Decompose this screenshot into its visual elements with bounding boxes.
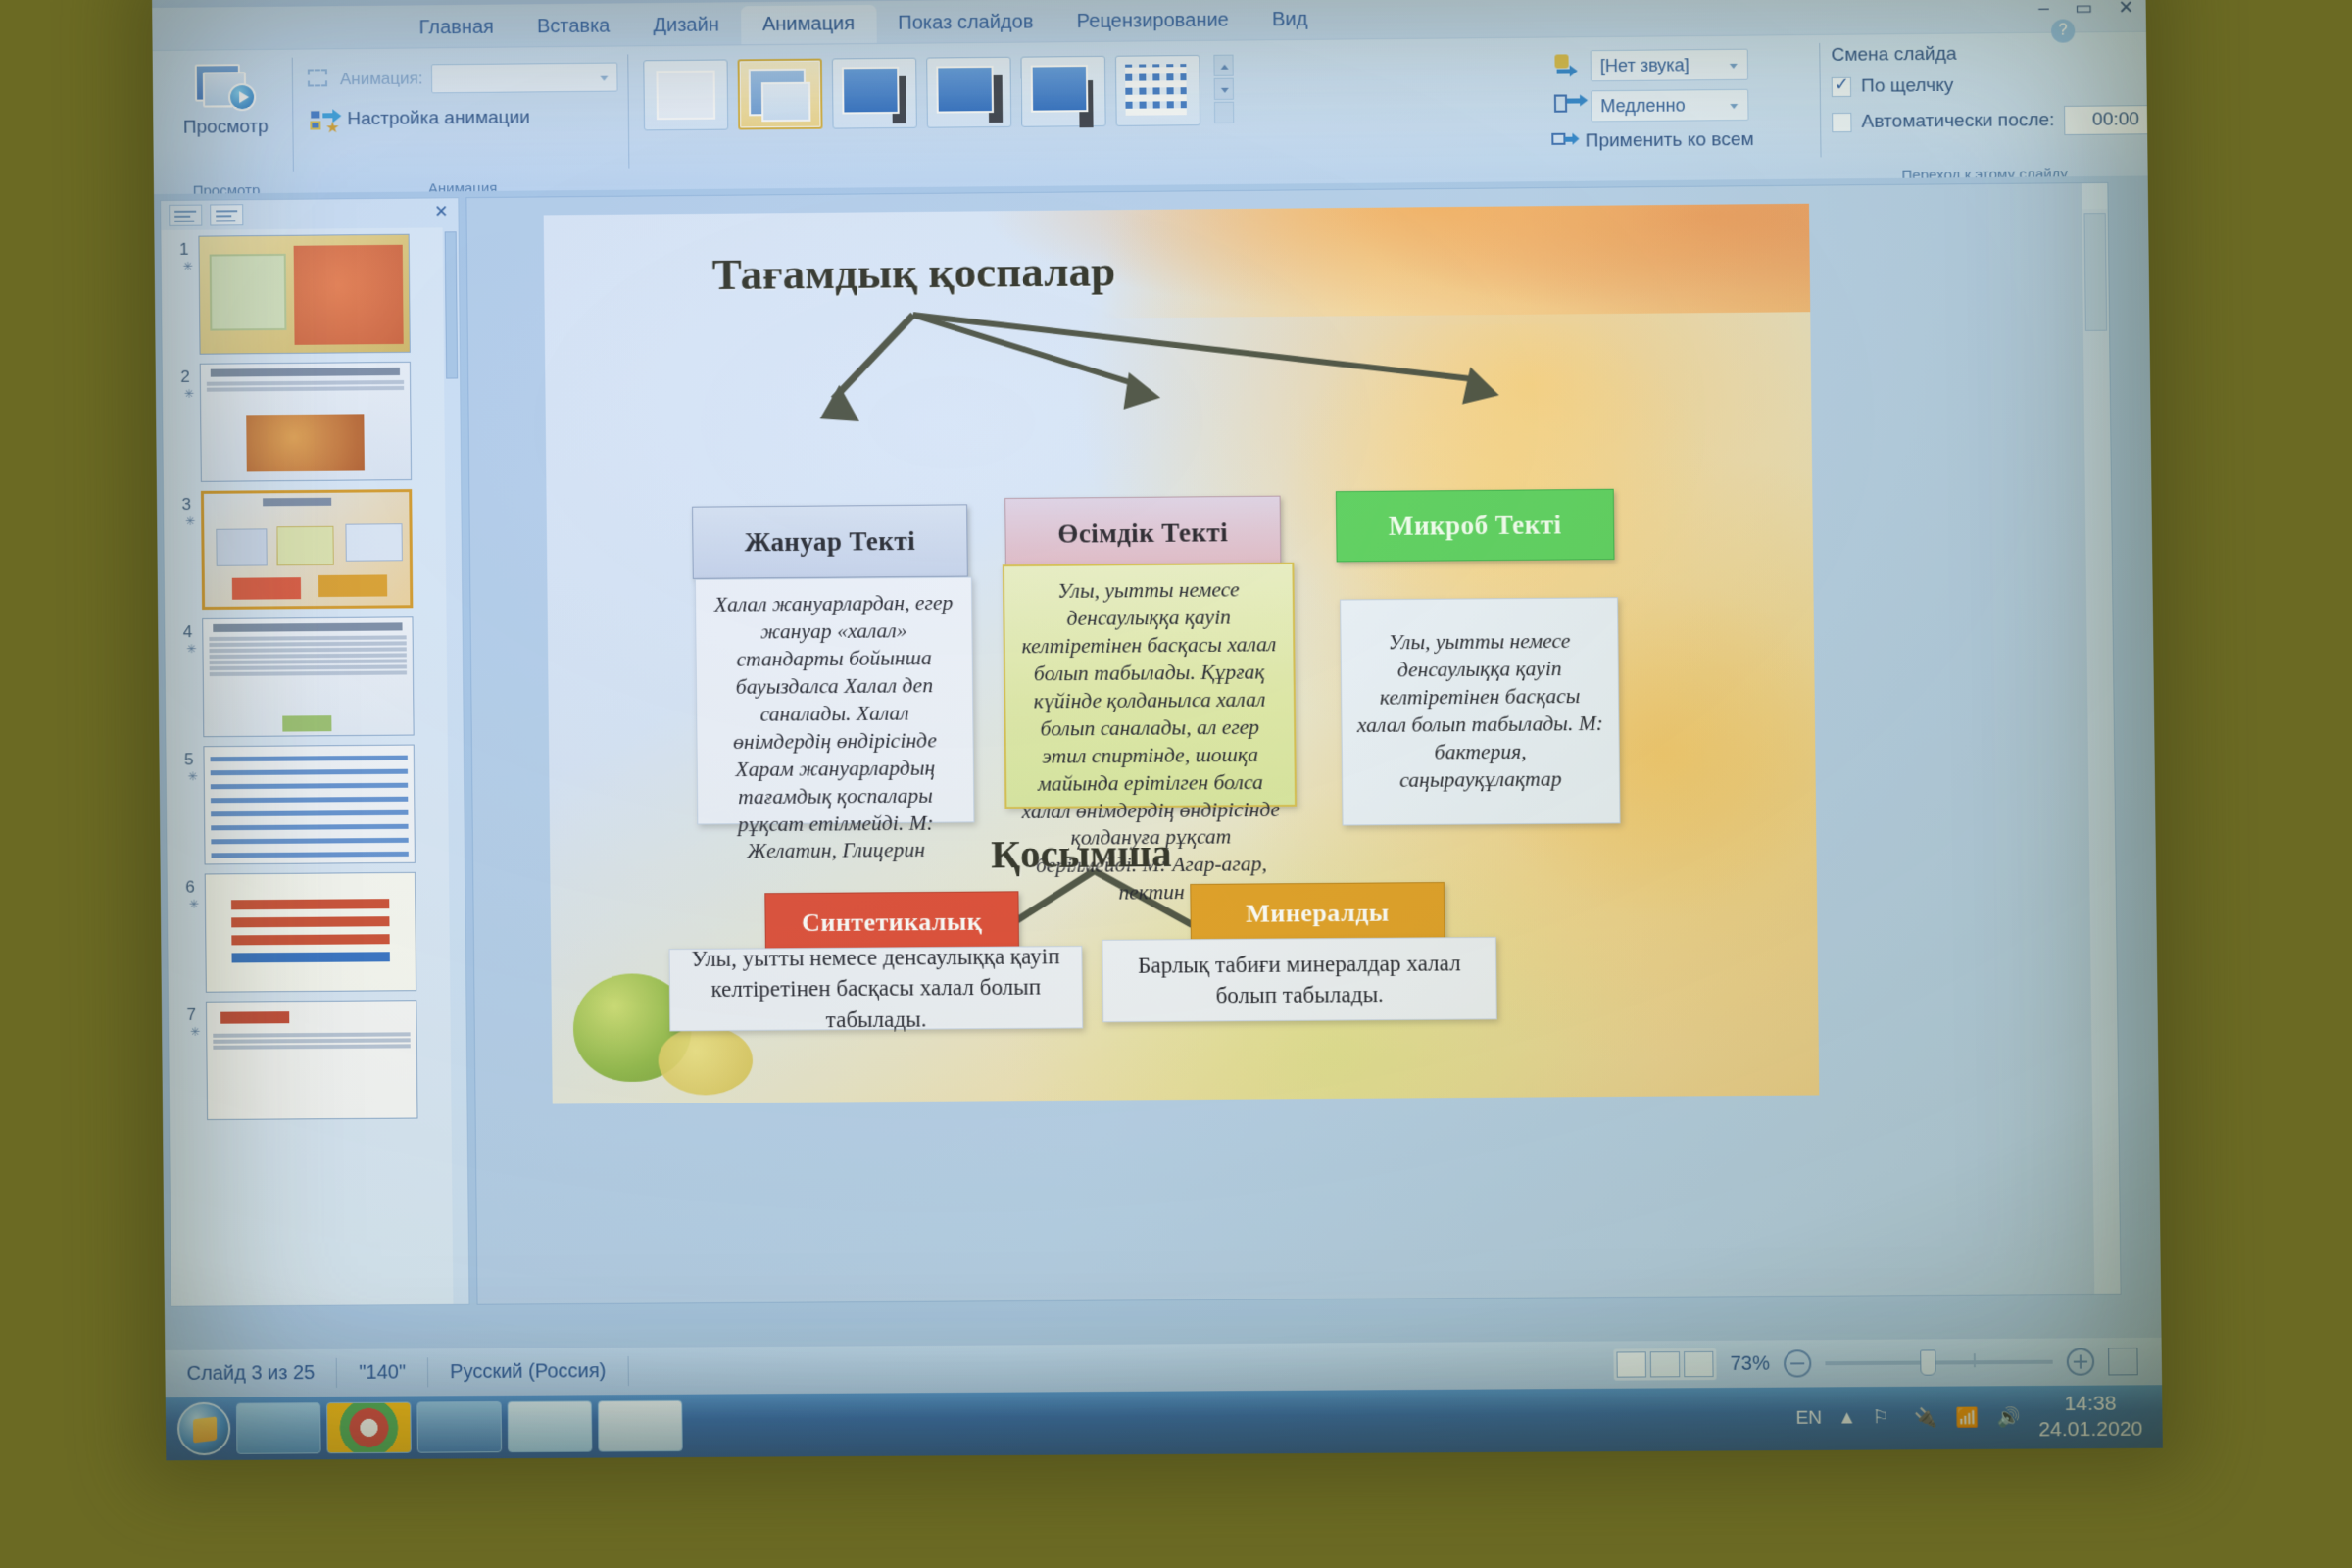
group-transition-gallery	[633, 44, 1313, 174]
tab-retsenzirovanie[interactable]: Рецензирование	[1054, 1, 1250, 42]
transition-speed-row: Медленно	[1549, 79, 1816, 122]
slide-canvas[interactable]: Тағамдық қоспалар Жа	[544, 204, 1820, 1104]
slide-subtitle[interactable]: Қосымша	[904, 828, 1258, 878]
taskbar-item-powerpoint[interactable]	[598, 1400, 683, 1452]
list-item[interactable]: 3✳	[170, 489, 447, 611]
auto-after-checkbox[interactable]	[1832, 113, 1851, 132]
auto-after-row[interactable]: Автоматически после: 00:00	[1826, 94, 2163, 137]
animation-label: Анимация:	[340, 69, 423, 89]
on-click-checkbox[interactable]	[1832, 77, 1851, 97]
slide-scrollbar[interactable]	[2082, 183, 2120, 1294]
tab-outline[interactable]	[210, 204, 243, 225]
thumb-preview[interactable]	[198, 234, 410, 355]
gallery-scroll-up[interactable]	[1213, 55, 1233, 76]
action-center-icon[interactable]: ⚐	[1872, 1406, 1898, 1430]
tab-vid[interactable]: Вид	[1250, 1, 1330, 41]
scroll-page-buttons[interactable]	[2095, 1199, 2118, 1264]
tab-dizayn[interactable]: Дизайн	[631, 6, 741, 46]
projected-screen: Тағам қоспалары - Microsoft PowerPoint –…	[152, 0, 2163, 1460]
category-body-2[interactable]: Улы, уытты немесе денсаулыққа қауіп келт…	[1003, 563, 1297, 808]
thumb-number: 7	[174, 1002, 196, 1025]
transition-sound-combo[interactable]: [Нет звука]	[1591, 49, 1748, 82]
list-item[interactable]: 6✳	[173, 872, 451, 993]
apply-all-icon	[1551, 130, 1577, 154]
tab-vstavka[interactable]: Вставка	[515, 7, 632, 47]
show-hidden-icons-icon[interactable]: ▲	[1837, 1407, 1856, 1429]
addition-body-2[interactable]: Барлық табиғи минералдар халал болып таб…	[1102, 937, 1496, 1022]
ribbon-body: Просмотр Просмотр Анимация: ★	[153, 31, 2148, 194]
fit-to-window-icon[interactable]	[2108, 1347, 2138, 1375]
animation-shape-icon	[308, 69, 331, 90]
thumb-preview-selected[interactable]	[201, 489, 413, 610]
custom-animation-row[interactable]: ★ Настройка анимации	[300, 92, 624, 132]
addition-body-1[interactable]: Улы, уытты немесе денсаулыққа қауіп келт…	[669, 946, 1084, 1031]
thumb-preview[interactable]	[202, 616, 414, 737]
custom-animation-icon: ★	[310, 108, 337, 131]
preview-button-label: Просмотр	[163, 117, 288, 139]
transition-5[interactable]	[1021, 56, 1106, 127]
list-item[interactable]: 7✳	[174, 1000, 452, 1120]
tab-animatsiya[interactable]: Анимация	[741, 5, 877, 45]
view-sorter-icon[interactable]	[1650, 1351, 1681, 1377]
thumb-number: 5	[171, 746, 193, 769]
thumb-preview[interactable]	[206, 1000, 418, 1120]
category-header-1[interactable]: Жануар Текті	[692, 504, 968, 579]
thumb-preview[interactable]	[205, 872, 417, 993]
view-slideshow-icon[interactable]	[1684, 1351, 1714, 1377]
thumb-number: 6	[173, 874, 195, 898]
status-right-group: 73%	[1613, 1346, 2162, 1381]
scroll-thumb[interactable]	[2083, 213, 2107, 331]
thumb-number: 4	[171, 618, 192, 642]
transition-dissolve[interactable]	[1115, 55, 1200, 126]
animation-row: Анимация:	[300, 50, 624, 94]
clock[interactable]: 14:38 24.01.2020	[2038, 1391, 2143, 1444]
list-item[interactable]: 4✳	[171, 616, 448, 737]
category-body-1[interactable]: Халал жануарлардан, егер жануар «халал» …	[695, 577, 975, 825]
ribbon: Главная Вставка Дизайн Анимация Показ сл…	[152, 0, 2147, 194]
zoom-level[interactable]: 73%	[1730, 1352, 1770, 1375]
taskbar-item-chrome[interactable]	[326, 1402, 412, 1454]
group-preview: Просмотр Просмотр	[163, 54, 289, 178]
workspace: ✕ 1✳ 2✳ 3✳	[154, 175, 2162, 1349]
transition-none[interactable]	[643, 59, 728, 130]
slide-thumbnail-list: 1✳ 2✳ 3✳	[161, 227, 453, 1305]
divider	[627, 54, 629, 168]
transition-speed-combo[interactable]: Медленно	[1591, 89, 1748, 122]
close-button[interactable]: ✕	[2118, 0, 2133, 20]
volume-icon[interactable]: 🔊	[1997, 1405, 2024, 1429]
slide-editor-pane: Тағамдық қоспалар Жа	[465, 182, 2121, 1305]
status-language[interactable]: Русский (Россия)	[428, 1356, 629, 1387]
speed-icon	[1553, 92, 1584, 120]
addition-header-2[interactable]: Минералды	[1190, 882, 1445, 945]
zoom-in-icon[interactable]	[2067, 1347, 2095, 1375]
apply-to-all-label: Применить ко всем	[1585, 129, 1753, 153]
animation-combo[interactable]	[431, 63, 617, 94]
thumb-number: 2	[169, 364, 190, 387]
gallery-more[interactable]	[1214, 102, 1234, 123]
maximize-button[interactable]: ▭	[2075, 0, 2092, 20]
clock-time: 14:38	[2038, 1391, 2143, 1417]
auto-after-value[interactable]: 00:00	[2064, 105, 2162, 135]
auto-after-label: Автоматически после:	[1861, 110, 2054, 133]
list-item[interactable]: 2✳	[169, 362, 445, 483]
preview-button[interactable]: Просмотр	[163, 60, 289, 139]
group-slide-change: Смена слайда По щелчку Автоматически пос…	[1825, 35, 2163, 164]
divider	[292, 58, 294, 171]
divider	[1819, 43, 1821, 157]
network-icon[interactable]: 📶	[1955, 1406, 1982, 1430]
input-language-indicator[interactable]: EN	[1795, 1408, 1822, 1430]
tab-slides[interactable]	[169, 205, 202, 226]
zoom-slider[interactable]	[1825, 1360, 2052, 1366]
close-panel-icon[interactable]: ✕	[434, 202, 448, 221]
zoom-slider-handle[interactable]	[1920, 1349, 1935, 1375]
zoom-out-icon[interactable]	[1784, 1349, 1812, 1377]
apply-to-all-button[interactable]: Применить ко всем	[1549, 120, 1816, 154]
view-buttons[interactable]	[1613, 1348, 1716, 1381]
group-transition-options: [Нет звука] Медленно Применить ко всем П…	[1548, 39, 1816, 166]
taskbar-item-media-player[interactable]	[416, 1401, 502, 1453]
on-click-row[interactable]: По щелчку	[1826, 63, 2163, 98]
preview-icon	[193, 60, 259, 116]
category-header-3[interactable]: Микроб Текті	[1336, 489, 1615, 563]
thumb-number: 1	[167, 236, 188, 260]
help-icon[interactable]: ?	[2051, 19, 2075, 42]
group-animation: Анимация: ★ Настройка анимации Анимация	[300, 50, 625, 176]
taskbar-item-internet-explorer[interactable]	[508, 1400, 593, 1452]
taskbar: EN ▲ ⚐ 🔌 📶 🔊 14:38 24.01.2020	[166, 1385, 2163, 1460]
slide-change-title: Смена слайда	[1825, 35, 2163, 67]
status-theme: "140"	[337, 1357, 428, 1388]
on-click-label: По щелчку	[1861, 75, 1953, 98]
list-item[interactable]: 5✳	[171, 744, 449, 864]
thumb-preview[interactable]	[203, 745, 416, 865]
window-controls[interactable]: – ▭ ✕	[2038, 0, 2134, 21]
gallery-scroll[interactable]	[1213, 55, 1234, 123]
category-header-2[interactable]: Өсімдік Текті	[1004, 496, 1281, 571]
view-normal-icon[interactable]	[1616, 1351, 1646, 1377]
speaker-icon	[1552, 52, 1583, 79]
decorative-fruit-icon	[658, 1026, 753, 1096]
transition-3[interactable]	[832, 58, 917, 129]
start-button-icon[interactable]	[177, 1402, 231, 1456]
minimize-button[interactable]: –	[2038, 0, 2049, 21]
system-tray: EN ▲ ⚐ 🔌 📶 🔊 14:38 24.01.2020	[1795, 1391, 2163, 1445]
transition-4[interactable]	[926, 57, 1011, 128]
slides-panel: ✕ 1✳ 2✳ 3✳	[160, 197, 469, 1307]
status-slide-count: Слайд 3 из 25	[165, 1358, 337, 1389]
thumb-preview[interactable]	[200, 362, 412, 482]
transition-sound-row: [Нет звука]	[1548, 39, 1815, 82]
tab-glavnaya[interactable]: Главная	[397, 8, 515, 48]
taskbar-item-explorer[interactable]	[236, 1402, 321, 1454]
custom-animation-label: Настройка анимации	[347, 107, 530, 130]
transition-gallery	[633, 44, 1313, 131]
battery-icon[interactable]: 🔌	[1914, 1406, 1940, 1430]
transition-selected[interactable]	[738, 59, 823, 130]
slide-title[interactable]: Тағамдық қоспалар	[658, 245, 1169, 301]
tab-pokaz-slaydov[interactable]: Показ слайдов	[876, 3, 1055, 44]
gallery-scroll-down[interactable]	[1214, 78, 1234, 100]
list-item[interactable]: 1✳	[167, 233, 443, 355]
scroll-up-icon[interactable]	[2082, 183, 2108, 209]
clock-date: 24.01.2020	[2038, 1417, 2143, 1444]
slides-panel-tabs: ✕	[161, 198, 459, 230]
category-body-3[interactable]: Улы, уытты немесе денсаулыққа қауіп келт…	[1340, 597, 1620, 825]
thumb-number: 3	[170, 491, 191, 514]
